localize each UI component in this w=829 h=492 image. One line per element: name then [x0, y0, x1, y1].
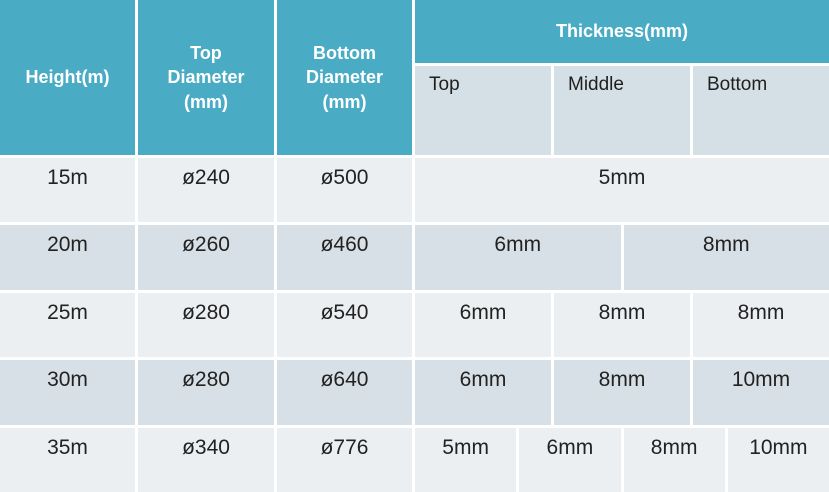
cell-height-value: 30m	[47, 368, 88, 392]
cell-thickness: 6mm	[519, 428, 623, 492]
cell-height: 15m	[0, 158, 138, 222]
cell-bottom-diameter: ø640	[277, 360, 415, 424]
column-header-thickness-label: Thickness(mm)	[556, 21, 688, 42]
cell-thickness-value: 5mm	[442, 436, 489, 460]
column-header-thickness-title: Thickness(mm)	[415, 0, 829, 66]
column-header-thickness-group: Thickness(mm) Top Middle Bottom	[415, 0, 829, 155]
cell-top-diameter: ø280	[138, 293, 277, 357]
cell-thickness-value: 8mm	[599, 368, 646, 392]
column-header-bottom-diameter-label: Bottom Diameter (mm)	[306, 41, 383, 114]
cell-height-value: 25m	[47, 301, 88, 325]
cell-top-diameter: ø280	[138, 360, 277, 424]
table-row: 35mø340ø7765mm6mm8mm10mm	[0, 425, 829, 492]
cell-bottom-diameter: ø776	[277, 428, 415, 492]
cell-bottom-diameter-value: ø500	[321, 166, 369, 190]
cell-thickness-group: 5mm	[415, 158, 829, 222]
cell-thickness-value: 10mm	[732, 368, 790, 392]
cell-top-diameter-value: ø260	[182, 233, 230, 257]
cell-thickness: 10mm	[728, 428, 829, 492]
cell-thickness: 5mm	[415, 428, 519, 492]
cell-height: 25m	[0, 293, 138, 357]
table-row: 30mø280ø6406mm8mm10mm	[0, 357, 829, 424]
specification-table: Height(m) Top Diameter (mm) Bottom Diame…	[0, 0, 829, 492]
cell-thickness: 10mm	[693, 360, 829, 424]
cell-bottom-diameter-value: ø540	[321, 301, 369, 325]
cell-height: 20m	[0, 225, 138, 289]
cell-top-diameter-value: ø340	[182, 436, 230, 460]
subcolumn-header-top-label: Top	[429, 74, 460, 96]
cell-top-diameter-value: ø280	[182, 301, 230, 325]
cell-thickness: 8mm	[693, 293, 829, 357]
cell-thickness: 5mm	[415, 158, 829, 222]
cell-bottom-diameter: ø500	[277, 158, 415, 222]
bottom-diameter-line-2: Diameter	[306, 67, 383, 87]
cell-top-diameter: ø240	[138, 158, 277, 222]
column-header-top-diameter: Top Diameter (mm)	[138, 0, 277, 155]
cell-top-diameter: ø260	[138, 225, 277, 289]
cell-top-diameter-value: ø240	[182, 166, 230, 190]
cell-thickness: 8mm	[624, 428, 728, 492]
cell-height: 30m	[0, 360, 138, 424]
cell-thickness-value: 8mm	[651, 436, 698, 460]
cell-thickness-value: 8mm	[703, 233, 750, 257]
cell-thickness-value: 6mm	[494, 233, 541, 257]
top-diameter-line-3: (mm)	[184, 92, 228, 112]
cell-thickness-value: 6mm	[460, 301, 507, 325]
bottom-diameter-line-1: Bottom	[313, 43, 376, 63]
subcolumn-header-middle: Middle	[554, 66, 693, 155]
cell-thickness-value: 8mm	[738, 301, 785, 325]
thickness-subheader-row: Top Middle Bottom	[415, 66, 829, 155]
bottom-diameter-line-3: (mm)	[322, 92, 366, 112]
table-row: 25mø280ø5406mm8mm8mm	[0, 290, 829, 357]
top-diameter-line-2: Diameter	[167, 67, 244, 87]
cell-thickness: 8mm	[624, 225, 829, 289]
cell-bottom-diameter-value: ø640	[321, 368, 369, 392]
cell-height-value: 20m	[47, 233, 88, 257]
cell-thickness: 8mm	[554, 293, 693, 357]
column-header-top-diameter-label: Top Diameter (mm)	[167, 41, 244, 114]
cell-height-value: 35m	[47, 436, 88, 460]
cell-height-value: 15m	[47, 166, 88, 190]
subcolumn-header-top: Top	[415, 66, 554, 155]
subcolumn-header-middle-label: Middle	[568, 74, 624, 96]
cell-top-diameter: ø340	[138, 428, 277, 492]
cell-bottom-diameter-value: ø460	[321, 233, 369, 257]
cell-thickness-value: 10mm	[749, 436, 807, 460]
table-header: Height(m) Top Diameter (mm) Bottom Diame…	[0, 0, 829, 155]
table-row: 15mø240ø5005mm	[0, 155, 829, 222]
table-body: 15mø240ø5005mm20mø260ø4606mm8mm25mø280ø5…	[0, 155, 829, 492]
cell-top-diameter-value: ø280	[182, 368, 230, 392]
cell-thickness-value: 6mm	[460, 368, 507, 392]
cell-thickness-value: 8mm	[599, 301, 646, 325]
cell-thickness-group: 6mm8mm10mm	[415, 360, 829, 424]
column-header-height-label: Height(m)	[26, 65, 110, 89]
cell-bottom-diameter-value: ø776	[321, 436, 369, 460]
cell-thickness: 6mm	[415, 360, 554, 424]
column-header-bottom-diameter: Bottom Diameter (mm)	[277, 0, 415, 155]
top-diameter-line-1: Top	[190, 43, 222, 63]
cell-thickness-value: 6mm	[547, 436, 594, 460]
subcolumn-header-bottom: Bottom	[693, 66, 829, 155]
cell-thickness-group: 5mm6mm8mm10mm	[415, 428, 829, 492]
cell-thickness: 6mm	[415, 293, 554, 357]
cell-thickness: 8mm	[554, 360, 693, 424]
column-header-height: Height(m)	[0, 0, 138, 155]
table-row: 20mø260ø4606mm8mm	[0, 222, 829, 289]
cell-thickness: 6mm	[415, 225, 624, 289]
cell-bottom-diameter: ø540	[277, 293, 415, 357]
cell-height: 35m	[0, 428, 138, 492]
cell-thickness-group: 6mm8mm	[415, 225, 829, 289]
cell-thickness-group: 6mm8mm8mm	[415, 293, 829, 357]
cell-thickness-value: 5mm	[599, 166, 646, 190]
subcolumn-header-bottom-label: Bottom	[707, 74, 767, 96]
cell-bottom-diameter: ø460	[277, 225, 415, 289]
